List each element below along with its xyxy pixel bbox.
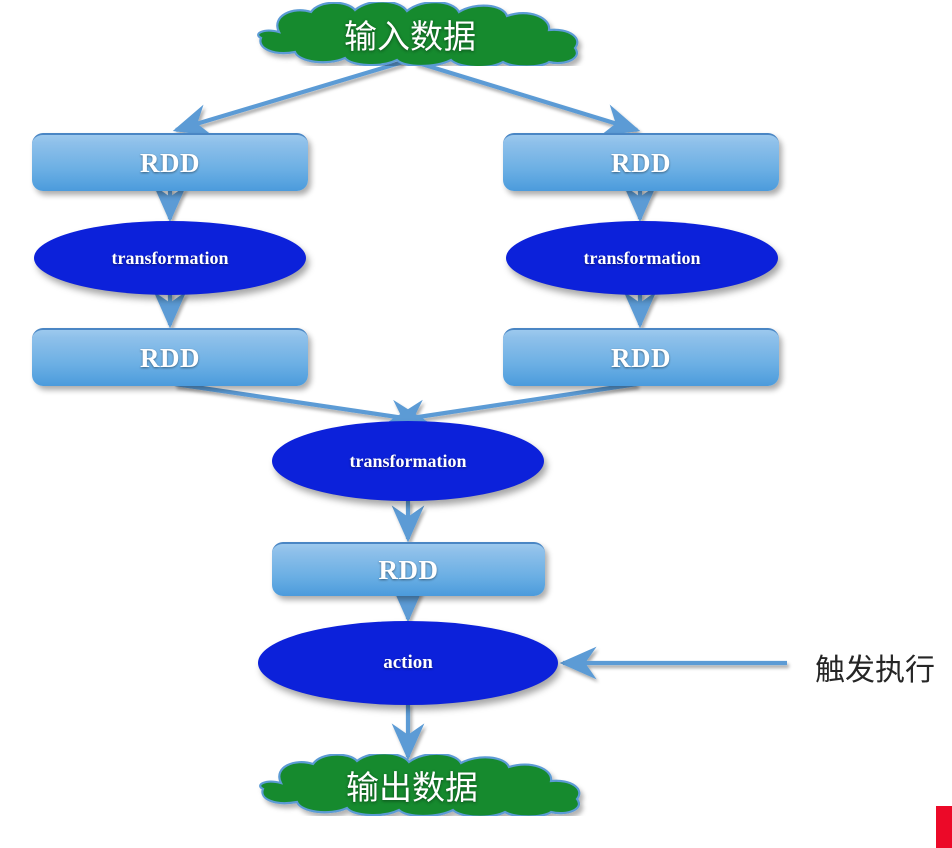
node-rdd-left-2[interactable]: RDD [32,328,308,386]
diagram-canvas: 输入数据 RDD RDD transformation transformati… [0,0,952,848]
annotation-trigger-execution: 触发执行 [815,645,935,689]
edge-rddleft2-to-merge [175,384,424,421]
edge-input-to-rdd-left [176,62,403,130]
node-rdd-left-1[interactable]: RDD [32,133,308,191]
rdd-merged-label: RDD [379,555,439,586]
transformation-merge-label: transformation [350,451,467,472]
node-output-cloud: 输出数据 [203,754,621,816]
node-transformation-left[interactable]: transformation [34,221,306,295]
node-rdd-right-1[interactable]: RDD [503,133,779,191]
rdd-left-1-label: RDD [140,148,200,179]
input-cloud-label: 输入数据 [201,2,619,66]
edge-input-to-rdd-right [415,62,637,130]
transformation-right-label: transformation [584,248,701,269]
node-rdd-right-2[interactable]: RDD [503,328,779,386]
rdd-left-2-label: RDD [140,343,200,374]
node-transformation-right[interactable]: transformation [506,221,778,295]
edge-rddright2-to-merge [392,384,637,421]
rdd-right-1-label: RDD [611,148,671,179]
output-cloud-label: 输出数据 [203,754,621,816]
node-rdd-merged[interactable]: RDD [272,542,545,596]
rdd-right-2-label: RDD [611,343,671,374]
node-transformation-merge[interactable]: transformation [272,421,544,501]
connector-layer [0,0,952,848]
watermark-red-bar [936,806,952,848]
node-input-cloud: 输入数据 [201,2,619,66]
transformation-left-label: transformation [112,248,229,269]
node-action[interactable]: action [258,621,558,705]
action-label: action [383,652,433,674]
